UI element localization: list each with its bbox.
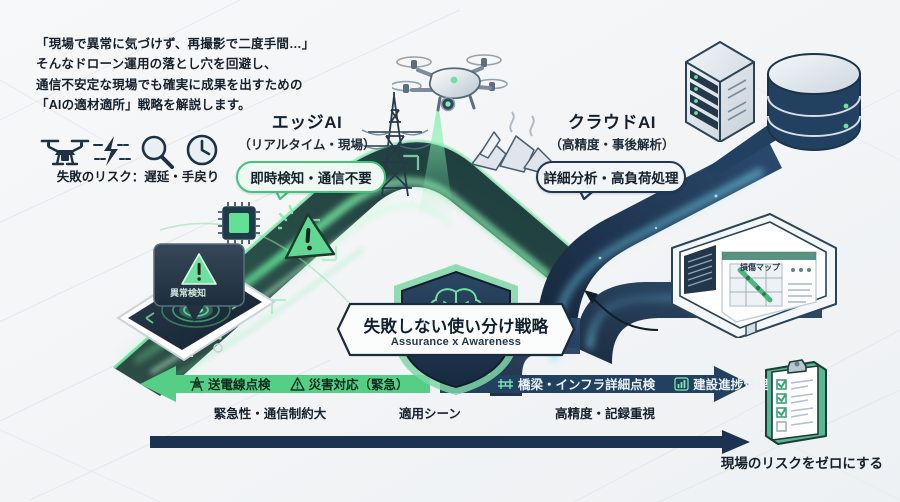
left-flow-item-0: 送電線点検 xyxy=(190,374,271,393)
anomaly-alert-label: 異常検知 xyxy=(170,286,206,299)
magnifier-icon xyxy=(143,137,172,167)
cloud-ai-title: クラウドAI xyxy=(532,108,692,133)
edge-ai-title: エッジAI xyxy=(232,108,382,133)
microchip-icon xyxy=(216,200,262,246)
left-flow-caption: 緊急性・通信制約大 xyxy=(170,403,370,422)
left-flow-item-1: 災害対応（緊急） xyxy=(290,374,409,393)
center-flow-caption: 適用シーン xyxy=(375,403,485,422)
database-cylinder-icon xyxy=(762,50,872,160)
edge-ai-badge: 即時検知・通信不要 xyxy=(236,161,386,193)
bridge-icon xyxy=(497,377,514,391)
intro-line-1: 「現場で異常に気づけず、再撮影で二度手間…」 xyxy=(36,34,386,54)
pylon-icon xyxy=(190,376,204,392)
strategy-banner: 失敗しない使い分け戦略 Assurance x Awareness xyxy=(340,306,572,356)
edge-ai-subtitle: （リアルタイム・現場） xyxy=(232,134,382,153)
outcome-arrow xyxy=(150,430,750,454)
intro-line-2: そんなドローン運用の落とし穴を回避し、 xyxy=(36,54,386,74)
intro-line-3: 通信不安定な現場でも確実に成果を出すための xyxy=(36,75,386,95)
drone-icon xyxy=(42,141,88,164)
clock-icon xyxy=(188,136,216,164)
left-flow-labels: 送電線点検 災害対応（緊急） xyxy=(190,374,409,393)
strategy-subtitle: Assurance x Awareness xyxy=(340,336,572,348)
drone-top-icon xyxy=(392,40,512,130)
right-flow-item-0-label: 橋梁・インフラ詳細点検 xyxy=(518,374,655,393)
right-flow-item-1: 建設進捗管理 xyxy=(674,374,768,393)
strategy-title: 失敗しない使い分け戦略 xyxy=(340,313,572,337)
right-flow-item-1-label: 建設進捗管理 xyxy=(693,374,768,393)
right-flow-item-0: 橋梁・インフラ詳細点検 xyxy=(497,374,655,393)
lightning-icon xyxy=(94,136,130,166)
left-flow-item-0-label: 送電線点検 xyxy=(208,374,271,393)
monitor-report-label: 損傷マップ xyxy=(740,262,780,273)
clipboard-checklist-icon xyxy=(756,356,832,448)
left-flow-item-1-label: 災害対応（緊急） xyxy=(309,374,409,393)
anomaly-alert-bubble xyxy=(152,242,252,328)
risk-icon-row xyxy=(36,133,236,169)
infographic-canvas: 異常検知 xyxy=(0,0,900,502)
outcome-caption: 現場のリスクをゼロにする xyxy=(712,452,892,472)
warning-triangle-icon xyxy=(290,377,305,391)
bar-chart-icon xyxy=(674,377,689,391)
cloud-ai-badge: 詳細分析・高負荷処理 xyxy=(536,161,686,193)
cloud-ai-heading: クラウドAI （高精度・事後解析） xyxy=(532,108,692,153)
risk-caption: 失敗のリスク：遅延・手戻り xyxy=(34,166,242,185)
right-flow-labels: 橋梁・インフラ詳細点検 建設進捗管理 xyxy=(497,374,768,393)
warning-triangle-icon xyxy=(278,204,342,268)
edge-ai-heading: エッジAI （リアルタイム・現場） xyxy=(232,108,382,153)
intro-paragraph: 「現場で異常に気づけず、再撮影で二度手間…」 そんなドローン運用の落とし穴を回避… xyxy=(36,34,386,115)
cloud-ai-subtitle: （高精度・事後解析） xyxy=(532,134,692,153)
desktop-monitor-icon xyxy=(660,208,840,338)
right-flow-caption: 高精度・記録重視 xyxy=(500,403,710,422)
